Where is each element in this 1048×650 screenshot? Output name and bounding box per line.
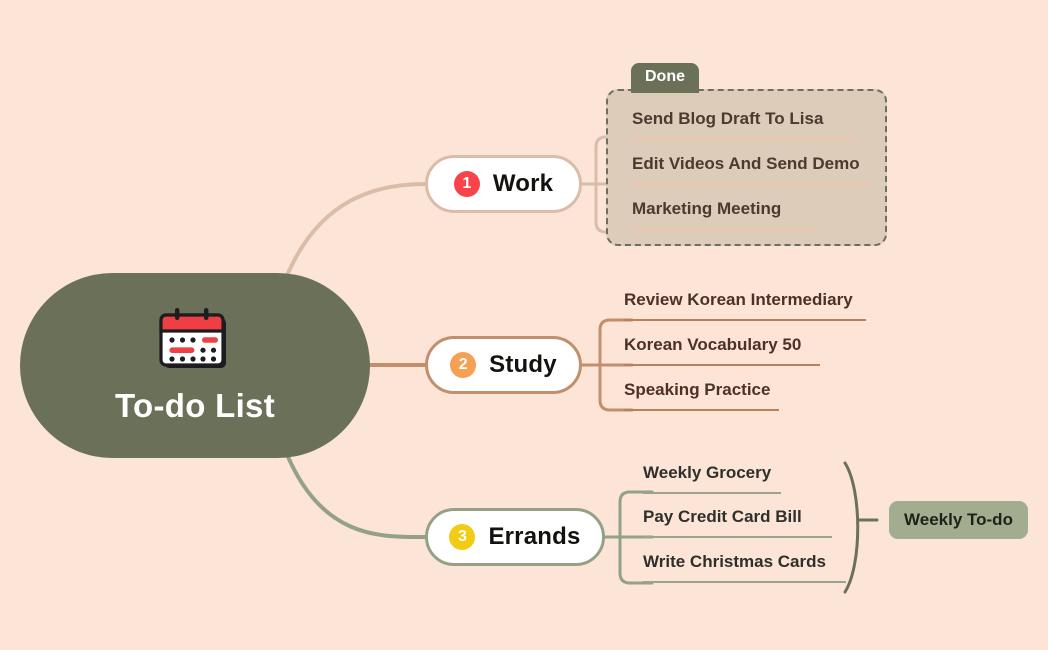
leaf-underline <box>643 581 846 583</box>
leaf-label: Weekly Grocery <box>643 464 781 483</box>
list-item[interactable]: Pay Credit Card Bill <box>643 508 832 538</box>
branch-node-study[interactable]: 2 Study <box>425 336 582 394</box>
branch-node-work[interactable]: 1 Work <box>425 155 582 213</box>
leaf-underline <box>632 228 819 230</box>
weekly-todo-label: Weekly To-do <box>904 510 1013 530</box>
calendar-icon <box>158 307 232 373</box>
done-group-tag[interactable]: Done <box>631 63 699 93</box>
leaf-label: Write Christmas Cards <box>643 553 846 572</box>
list-item[interactable]: Write Christmas Cards <box>643 553 846 583</box>
leaf-label: Speaking Practice <box>624 381 779 400</box>
weekly-todo-tag[interactable]: Weekly To-do <box>889 501 1028 539</box>
leaf-underline <box>643 536 832 538</box>
list-item[interactable]: Send Blog Draft To Lisa <box>632 110 855 140</box>
list-item[interactable]: Review Korean Intermediary <box>624 291 866 321</box>
leaf-label: Marketing Meeting <box>632 200 819 219</box>
weekly-brace <box>845 463 858 592</box>
leaf-underline <box>624 319 866 321</box>
branch-label-study: Study <box>489 351 557 379</box>
leaf-label: Send Blog Draft To Lisa <box>632 110 855 129</box>
leaf-label: Korean Vocabulary 50 <box>624 336 820 355</box>
trunk-errands <box>286 452 425 537</box>
page-title: To-do List <box>115 387 275 425</box>
leaf-underline <box>624 364 820 366</box>
branch-badge-1: 1 <box>454 171 480 197</box>
leaf-label: Edit Videos And Send Demo <box>632 155 870 174</box>
list-item[interactable]: Marketing Meeting <box>632 200 819 230</box>
leaf-underline <box>624 409 779 411</box>
central-node[interactable]: To-do List <box>20 273 370 458</box>
leaf-underline <box>643 492 781 494</box>
leaf-underline <box>632 138 855 140</box>
mindmap-canvas: To-do List 1 Work 2 Study 3 Errands Done… <box>0 0 1048 650</box>
list-item[interactable]: Weekly Grocery <box>643 464 781 494</box>
list-item[interactable]: Speaking Practice <box>624 381 779 411</box>
branch-badge-3: 3 <box>449 524 475 550</box>
trunk-work <box>286 184 425 278</box>
branch-badge-2: 2 <box>450 352 476 378</box>
list-item[interactable]: Korean Vocabulary 50 <box>624 336 820 366</box>
leaf-label: Review Korean Intermediary <box>624 291 866 310</box>
branch-node-errands[interactable]: 3 Errands <box>425 508 605 566</box>
list-item[interactable]: Edit Videos And Send Demo <box>632 155 870 185</box>
branch-label-errands: Errands <box>488 523 580 551</box>
branch-label-work: Work <box>493 170 553 198</box>
leaf-underline <box>632 183 870 185</box>
leaf-label: Pay Credit Card Bill <box>643 508 832 527</box>
